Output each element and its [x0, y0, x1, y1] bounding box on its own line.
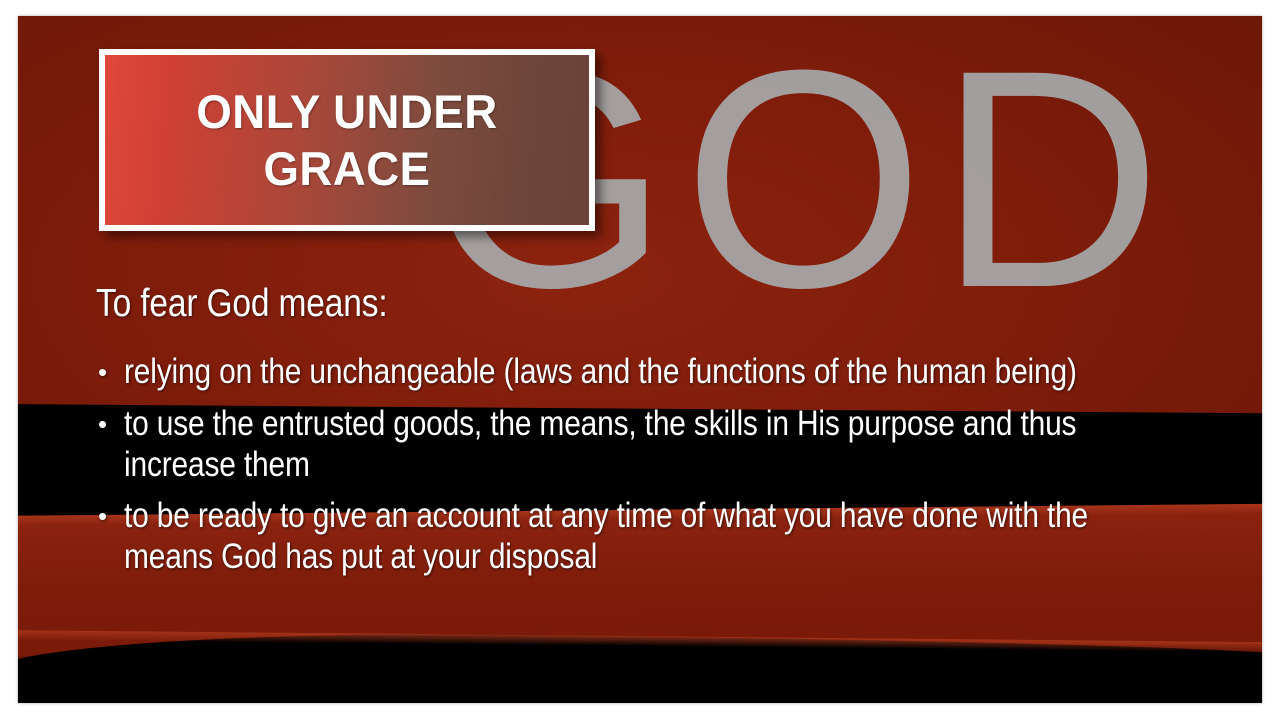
slide-body: To fear God means: relying on the unchan…: [96, 282, 1166, 589]
bullet-list: relying on the unchangeable (laws and th…: [96, 352, 1166, 579]
body-lead-text: To fear God means:: [96, 282, 1016, 326]
slide-title: ONLY UNDER GRACE: [112, 83, 581, 198]
title-plaque: ONLY UNDER GRACE: [99, 49, 595, 231]
presentation-slide: GOD ONLY UNDER GRACE To fear God means: …: [18, 16, 1262, 703]
bullet-text: relying on the unchangeable (laws and th…: [124, 352, 1166, 393]
decorative-band-glow-lower: [18, 630, 1262, 652]
slide-canvas: GOD ONLY UNDER GRACE To fear God means: …: [0, 0, 1280, 720]
decorative-black-band-bottom: [18, 630, 1262, 703]
bullet-text: to use the entrusted goods, the means, t…: [124, 404, 1166, 486]
bullet-text: to be ready to give an account at any ti…: [124, 496, 1166, 578]
list-item: to be ready to give an account at any ti…: [96, 496, 1166, 578]
list-item: relying on the unchangeable (laws and th…: [96, 352, 1166, 393]
list-item: to use the entrusted goods, the means, t…: [96, 404, 1166, 486]
